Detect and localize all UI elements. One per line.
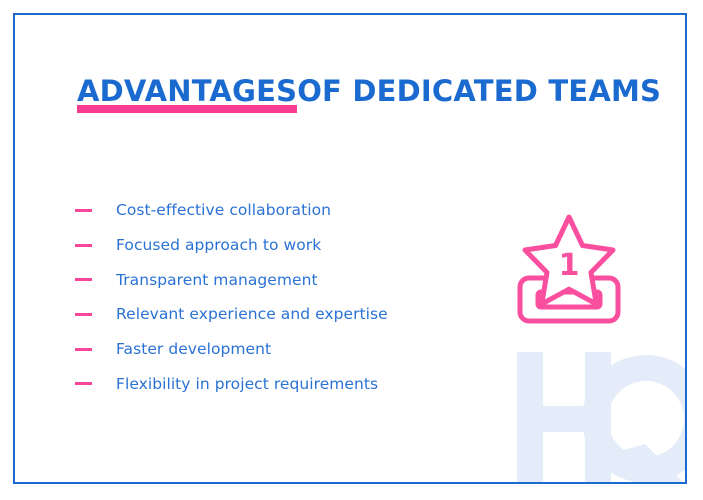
advantages-list: Cost-effective collaboration Focused app…: [75, 193, 388, 401]
list-item-label: Cost-effective collaboration: [116, 201, 331, 219]
dash-bullet-icon: [75, 244, 92, 247]
dash-bullet-icon: [75, 313, 92, 316]
slide-canvas: ADVANTAGES OF DEDICATED TEAMS Cost-effec…: [0, 0, 703, 500]
list-item: Transparent management: [75, 262, 388, 297]
award-trophy-icon: 1: [513, 212, 625, 328]
list-item-label: Relevant experience and expertise: [116, 305, 388, 323]
dash-bullet-icon: [75, 382, 92, 385]
rank-number: 1: [559, 248, 580, 283]
dash-bullet-icon: [75, 209, 92, 212]
list-item-label: Focused approach to work: [116, 236, 321, 254]
dash-bullet-icon: [75, 278, 92, 281]
list-item: Faster development: [75, 332, 388, 367]
list-item: Cost-effective collaboration: [75, 193, 388, 228]
hq-watermark-logo: [505, 340, 685, 482]
list-item: Focused approach to work: [75, 228, 388, 263]
slide-content-clip: ADVANTAGES OF DEDICATED TEAMS Cost-effec…: [15, 15, 685, 482]
list-item: Relevant experience and expertise: [75, 297, 388, 332]
list-item-label: Transparent management: [116, 271, 318, 289]
list-item-label: Flexibility in project requirements: [116, 375, 378, 393]
list-item: Flexibility in project requirements: [75, 366, 388, 401]
dash-bullet-icon: [75, 348, 92, 351]
title-highlighted-word: ADVANTAGES: [77, 75, 297, 107]
title-rest: OF DEDICATED TEAMS: [297, 75, 661, 107]
page-title: ADVANTAGES OF DEDICATED TEAMS: [77, 75, 661, 107]
list-item-label: Faster development: [116, 340, 271, 358]
